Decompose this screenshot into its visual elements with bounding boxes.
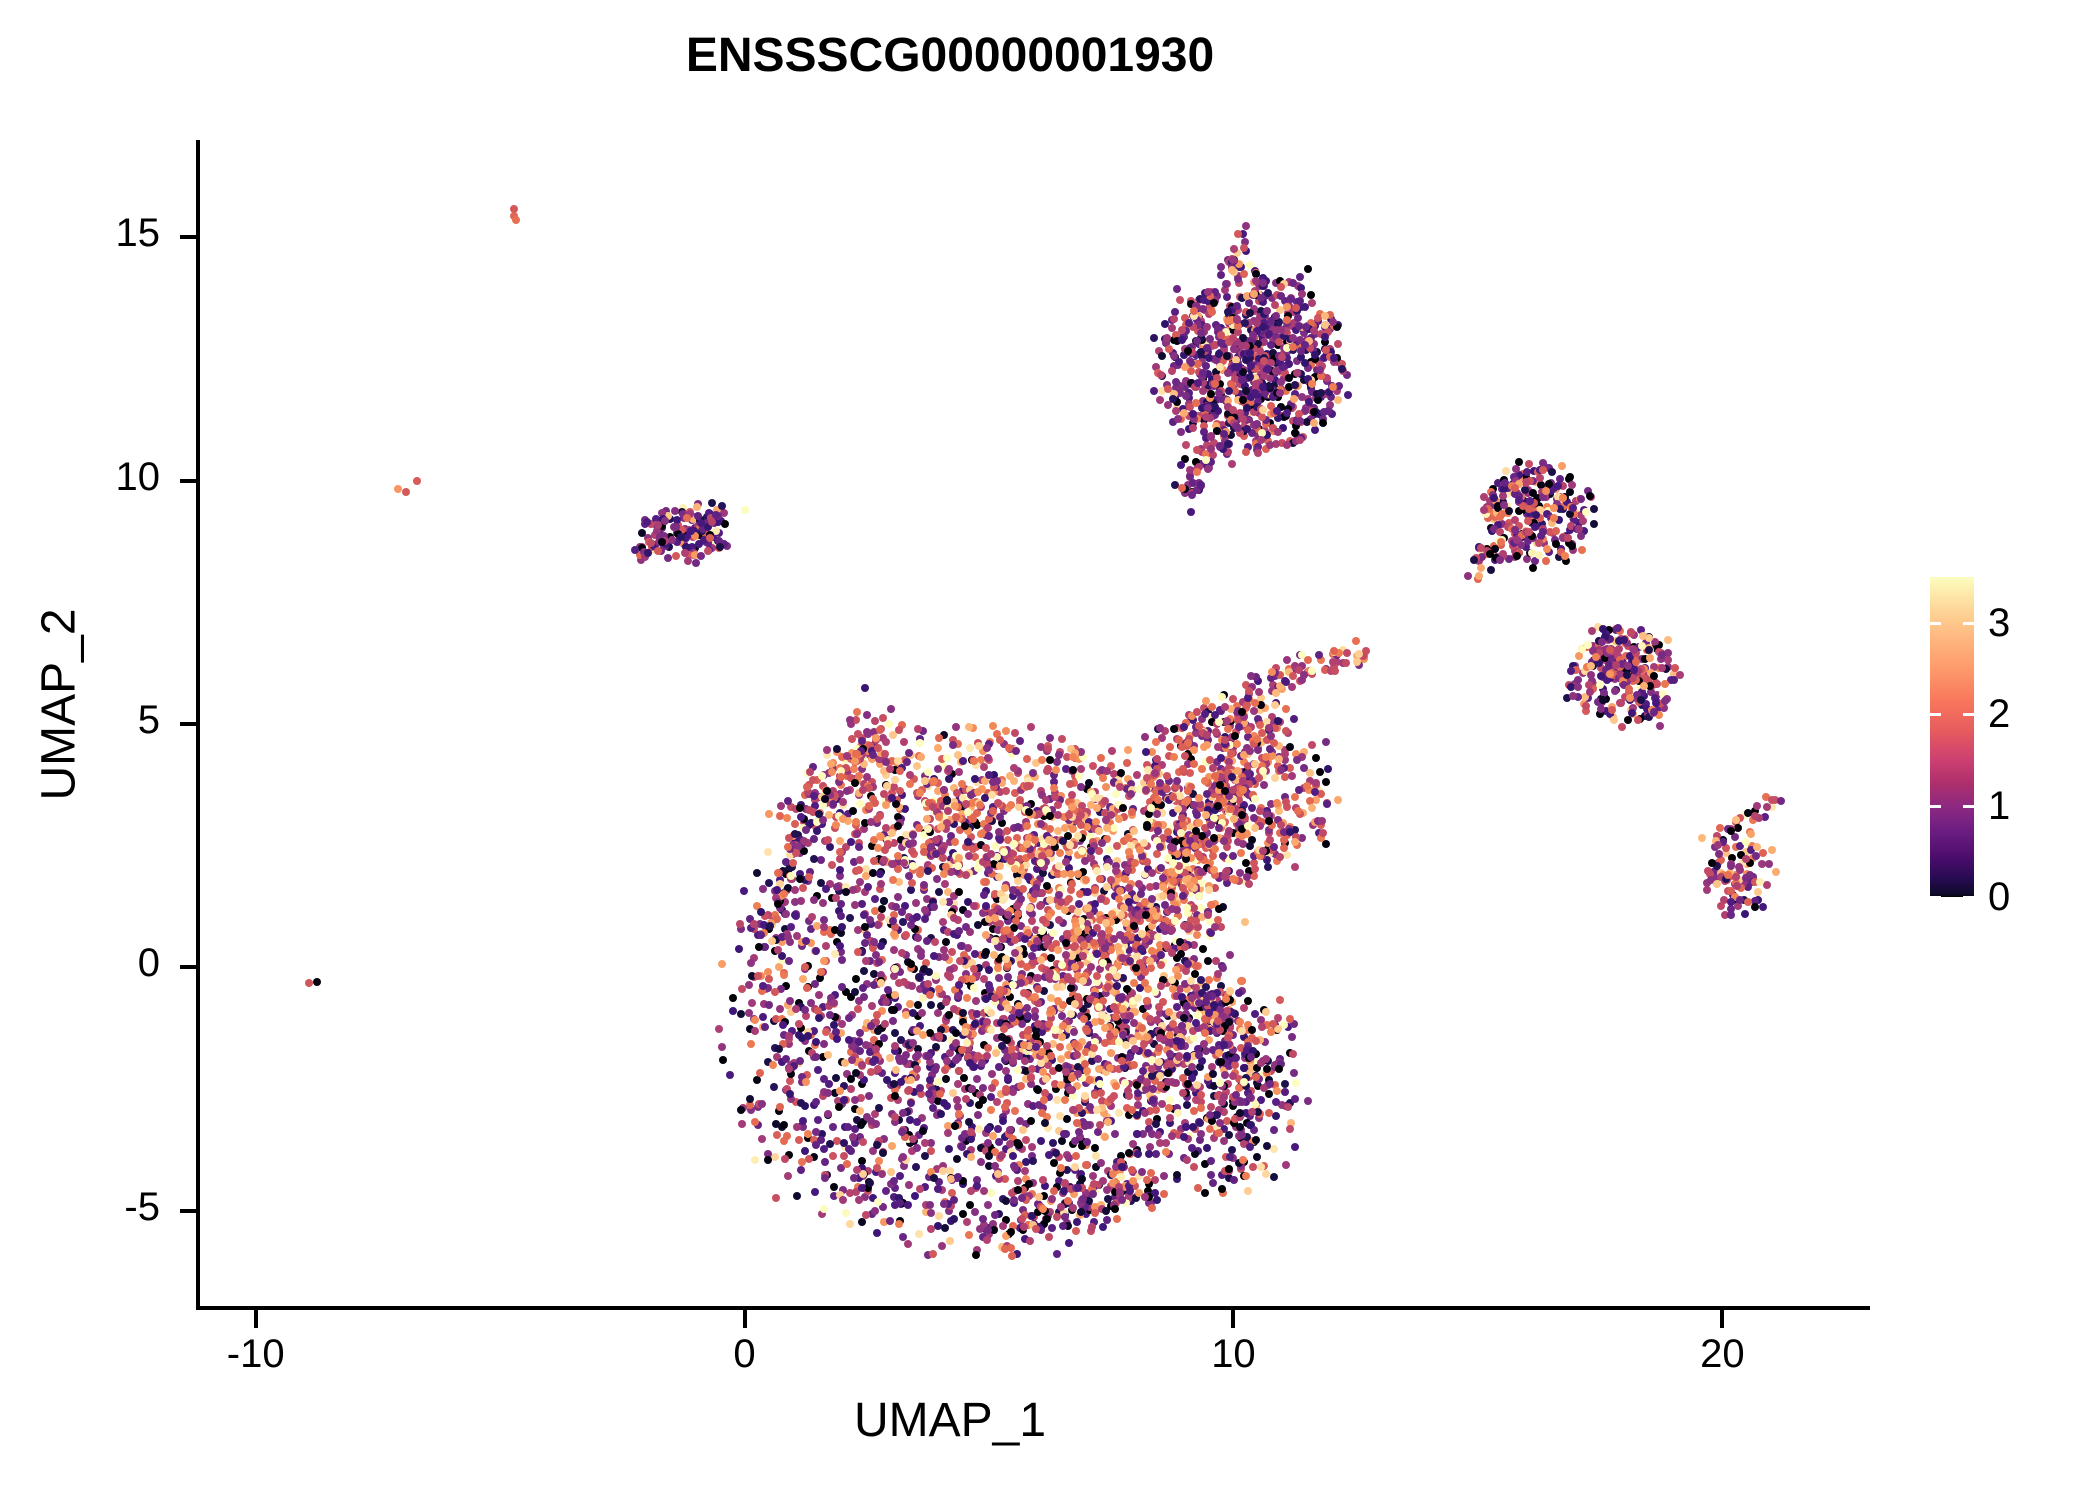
scatter-point [874,1027,882,1035]
scatter-point [916,870,924,878]
scatter-point [1101,797,1109,805]
scatter-point [1155,1003,1163,1011]
scatter-point [970,902,978,910]
scatter-point [1166,1114,1174,1122]
scatter-point [960,1074,968,1082]
scatter-point [736,920,744,928]
scatter-point [1263,307,1271,315]
scatter-point [1146,883,1154,891]
scatter-point [1168,367,1176,375]
scatter-point [1203,1144,1211,1152]
scatter-point [1207,1157,1215,1165]
scatter-point [937,823,945,831]
scatter-point [917,753,925,761]
scatter-point [1007,801,1015,809]
scatter-point [1277,292,1285,300]
scatter-point [1058,961,1066,969]
scatter-point [1203,323,1211,331]
scatter-point [912,899,920,907]
scatter-point [886,1217,894,1225]
scatter-point [976,801,984,809]
scatter-point [822,885,830,893]
scatter-point [1252,1136,1260,1144]
scatter-point [775,963,783,971]
scatter-point [985,866,993,874]
scatter-point [1199,945,1207,953]
scatter-point [1262,1008,1270,1016]
scatter-point [918,1009,926,1017]
scatter-point [986,985,994,993]
scatter-point [923,815,931,823]
scatter-point [1052,766,1060,774]
scatter-point [1027,1117,1035,1125]
scatter-point [994,964,1002,972]
scatter-point [1134,994,1142,1002]
scatter-point [815,1014,823,1022]
scatter-point [1116,783,1124,791]
scatter-point [952,723,960,731]
scatter-point [913,1118,921,1126]
scatter-point [1099,774,1107,782]
scatter-point [1141,733,1149,741]
scatter-point [1097,754,1105,762]
scatter-point [1104,1118,1112,1126]
scatter-point [979,1096,987,1104]
scatter-point [995,828,1003,836]
scatter-point [1166,743,1174,751]
scatter-point [1141,979,1149,987]
scatter-point [1293,369,1301,377]
scatter-point [1292,1079,1300,1087]
scatter-point [1242,448,1250,456]
scatter-point [925,968,933,976]
scatter-point [891,776,899,784]
scatter-point [874,1065,882,1073]
scatter-point [1001,884,1009,892]
scatter-point [930,903,938,911]
scatter-point [1012,747,1020,755]
scatter-point [964,808,972,816]
scatter-point [765,975,773,983]
scatter-point [1011,949,1019,957]
scatter-point [1102,919,1110,927]
scatter-point [955,981,963,989]
scatter-point [886,765,894,773]
scatter-point [1319,829,1327,837]
scatter-point [1121,875,1129,883]
scatter-point [985,771,993,779]
scatter-point [1119,804,1127,812]
scatter-point [1291,1095,1299,1103]
scatter-point [967,791,975,799]
scatter-point [1064,832,1072,840]
scatter-point [1229,852,1237,860]
scatter-point [1008,1014,1016,1022]
scatter-point [934,765,942,773]
scatter-point [856,1107,864,1115]
scatter-point [909,831,917,839]
scatter-point [945,1011,953,1019]
scatter-point [927,1001,935,1009]
scatter-point [1172,378,1180,386]
scatter-point [1158,352,1166,360]
scatter-point [1296,273,1304,281]
scatter-point [747,1040,755,1048]
scatter-point [1070,1028,1078,1036]
scatter-point [817,968,825,976]
scatter-point [1073,1119,1081,1127]
scatter-point [842,1209,850,1217]
scatter-point [907,1076,915,1084]
scatter-point [936,1090,944,1098]
scatter-point [877,979,885,987]
scatter-point [1308,804,1316,812]
scatter-point [1189,424,1197,432]
scatter-point [940,946,948,954]
scatter-point [881,846,889,854]
scatter-point [1164,385,1172,393]
scatter-point [1083,888,1091,896]
scatter-point [1058,1137,1066,1145]
scatter-point [829,1152,837,1160]
scatter-point [945,765,953,773]
scatter-point [915,973,923,981]
scatter-point [896,787,904,795]
scatter-point [839,1196,847,1204]
scatter-point [906,1000,914,1008]
scatter-point [1011,1164,1019,1172]
scatter-point [1111,1130,1119,1138]
scatter-point [1164,1069,1172,1077]
scatter-point [1023,840,1031,848]
scatter-point [771,1153,779,1161]
scatter-point [1184,347,1192,355]
scatter-point [1027,723,1035,731]
scatter-point [1034,985,1042,993]
scatter-point [1277,766,1285,774]
scatter-point [971,775,979,783]
scatter-point [1129,1037,1137,1045]
scatter-point [1042,796,1050,804]
scatter-point [890,1006,898,1014]
scatter-point [1170,315,1178,323]
scatter-point [1338,365,1346,373]
scatter-point [1095,1003,1103,1011]
scatter-point [926,991,934,999]
scatter-point [1010,777,1018,785]
scatter-point [1164,828,1172,836]
scatter-point [867,818,875,826]
scatter-point [1103,883,1111,891]
scatter-point [1316,768,1324,776]
scatter-point [998,1042,1006,1050]
scatter-point [1049,929,1057,937]
scatter-point [865,802,873,810]
scatter-point [985,832,993,840]
scatter-point [822,942,830,950]
scatter-point [999,1117,1007,1125]
scatter-point [879,1149,887,1157]
scatter-point [1238,832,1246,840]
scatter-point [1107,1095,1115,1103]
scatter-point [1334,340,1342,348]
scatter-point [1127,790,1135,798]
scatter-point [833,1035,841,1043]
scatter-point [916,789,924,797]
scatter-point [1251,865,1259,873]
scatter-point [1147,780,1155,788]
scatter-point [950,1215,958,1223]
scatter-point [1110,935,1118,943]
scatter-point [991,994,999,1002]
scatter-point [861,923,869,931]
scatter-point [1285,374,1293,382]
scatter-point [1192,1096,1200,1104]
scatter-point [1157,371,1165,379]
scatter-point [1037,820,1045,828]
scatter-point [1237,977,1245,985]
scatter-point [1211,923,1219,931]
scatter-point [983,744,991,752]
scatter-point [1126,1053,1134,1061]
scatter-point [1101,1024,1109,1032]
scatter-point [753,1076,761,1084]
scatter-point [1058,735,1066,743]
scatter-point [842,888,850,896]
scatter-point [1153,1016,1161,1024]
scatter-point [1198,765,1206,773]
scatter-point [1031,993,1039,1001]
scatter-point [970,1063,978,1071]
scatter-point [738,985,746,993]
scatter-point [999,935,1007,943]
scatter-point [1083,1138,1091,1146]
scatter-point [853,830,861,838]
scatter-point [841,1059,849,1067]
scatter-point [871,895,879,903]
scatter-point [905,1181,913,1189]
scatter-point [906,780,914,788]
page-title: ENSSSCG00000001930 [0,28,1900,83]
scatter-point [1125,848,1133,856]
scatter-point [1054,811,1062,819]
scatter-point [1344,391,1352,399]
scatter-point [1071,1000,1079,1008]
scatter-point [1270,1126,1278,1134]
scatter-point [995,873,1003,881]
scatter-point [780,971,788,979]
scatter-point [820,957,828,965]
scatter-point [924,867,932,875]
scatter-point [955,768,963,776]
scatter-point [831,950,839,958]
scatter-point [1179,765,1187,773]
scatter-point [1081,1060,1089,1068]
scatter-point [849,807,857,815]
scatter-point [843,1160,851,1168]
scatter-point [1207,1171,1215,1179]
scatter-point [1134,1150,1142,1158]
scatter-point [929,1104,937,1112]
scatter-point [812,1053,820,1061]
scatter-point [1168,324,1176,332]
scatter-point [907,960,915,968]
scatter-point [891,1113,899,1121]
scatter-point [994,1170,1002,1178]
scatter-point [935,1212,943,1220]
scatter-point [877,880,885,888]
scatter-point [952,1056,960,1064]
scatter-point [1108,910,1116,918]
scatter-point [1112,1013,1120,1021]
scatter-point [1318,817,1326,825]
scatter-point [1090,1044,1098,1052]
scatter-point [1124,834,1132,842]
scatter-point [951,1122,959,1130]
scatter-point [1141,1109,1149,1117]
scatter-point [874,1198,882,1206]
scatter-point [1055,751,1063,759]
scatter-point [1156,843,1164,851]
scatter-point [1154,1131,1162,1139]
scatter-point [858,1157,866,1165]
scatter-point [1056,1043,1064,1051]
chart-root: ENSSSCG00000001930 -5051015 -1001020 UMA… [0,0,2100,1500]
scatter-point [914,1001,922,1009]
scatter-point [832,1074,840,1082]
scatter-point [873,1229,881,1237]
scatter-point [1211,380,1219,388]
scatter-point [1246,309,1254,317]
scatter-point [1237,849,1245,857]
scatter-point [1267,1028,1275,1036]
scatter-point [1208,308,1216,316]
scatter-point [801,1147,809,1155]
scatter-point [1218,693,1226,701]
scatter-point [1215,389,1223,397]
scatter-point [954,1173,962,1181]
scatter-point [875,1104,883,1112]
scatter-point [838,956,846,964]
scatter-point [796,1057,804,1065]
scatter-point [987,1026,995,1034]
scatter-point [1283,851,1291,859]
scatter-point [1068,977,1076,985]
scatter-point [1322,778,1330,786]
scatter-point [1323,800,1331,808]
scatter-point [1011,729,1019,737]
scatter-point [775,1045,783,1053]
scatter-point [954,751,962,759]
scatter-point [1184,1080,1192,1088]
scatter-point [852,975,860,983]
scatter-point [996,736,1004,744]
scatter-point [991,914,999,922]
scatter-point [1157,982,1165,990]
scatter-point [938,1242,946,1250]
scatter-point [896,767,904,775]
scatter-point [1045,1233,1053,1241]
scatter-point [737,1106,745,1114]
scatter-point [1249,1163,1257,1171]
scatter-point [1077,811,1085,819]
scatter-point [769,1061,777,1069]
scatter-point [948,948,956,956]
scatter-point [1222,280,1230,288]
scatter-point [1006,1126,1014,1134]
scatter-point [1074,908,1082,916]
scatter-point [953,1155,961,1163]
scatter-point [955,888,963,896]
scatter-point [892,903,900,911]
scatter-point [934,744,942,752]
scatter-point [965,1118,973,1126]
scatter-point [980,763,988,771]
scatter-point [751,1118,759,1126]
scatter-point [779,1021,787,1029]
scatter-point [1282,705,1290,713]
scatter-point [1293,756,1301,764]
scatter-point [984,1201,992,1209]
scatter-point [866,916,874,924]
scatter-point [895,979,903,987]
scatter-point [953,789,961,797]
scatter-point [715,1025,723,1033]
scatter-point [1152,738,1160,746]
scatter-point [1235,989,1243,997]
scatter-point [1107,1049,1115,1057]
scatter-point [889,1017,897,1025]
scatter-point [942,1075,950,1083]
scatter-point [856,856,864,864]
scatter-point [1102,783,1110,791]
scatter-point [826,1011,834,1019]
scatter-point [1154,933,1162,941]
scatter-point [1190,1163,1198,1171]
scatter-point [1194,360,1202,368]
scatter-point [854,948,862,956]
scatter-point [756,1069,764,1077]
scatter-point [904,1201,912,1209]
scatter-point [1274,428,1282,436]
scatter-point [877,942,885,950]
scatter-point [921,1152,929,1160]
scatter-point [1277,326,1285,334]
scatter-point [974,788,982,796]
scatter-point [941,1224,949,1232]
scatter-point [1097,895,1105,903]
scatter-point [876,812,884,820]
scatter-point [1026,904,1034,912]
scatter-point [955,854,963,862]
scatter-point [1096,875,1104,883]
scatter-point [825,1080,833,1088]
scatter-point [1046,734,1054,742]
scatter-point [964,910,972,918]
scatter-point [1051,793,1059,801]
scatter-point [828,861,836,869]
scatter-point [795,1136,803,1144]
scatter-point [927,1225,935,1233]
scatter-point [1264,863,1272,871]
scatter-point [965,1231,973,1239]
scatter-point [1115,1109,1123,1117]
scatter-point [1334,396,1342,404]
scatter-point [1052,1149,1060,1157]
scatter-point [955,927,963,935]
scatter-point [729,1007,737,1015]
scatter-point [1271,301,1279,309]
